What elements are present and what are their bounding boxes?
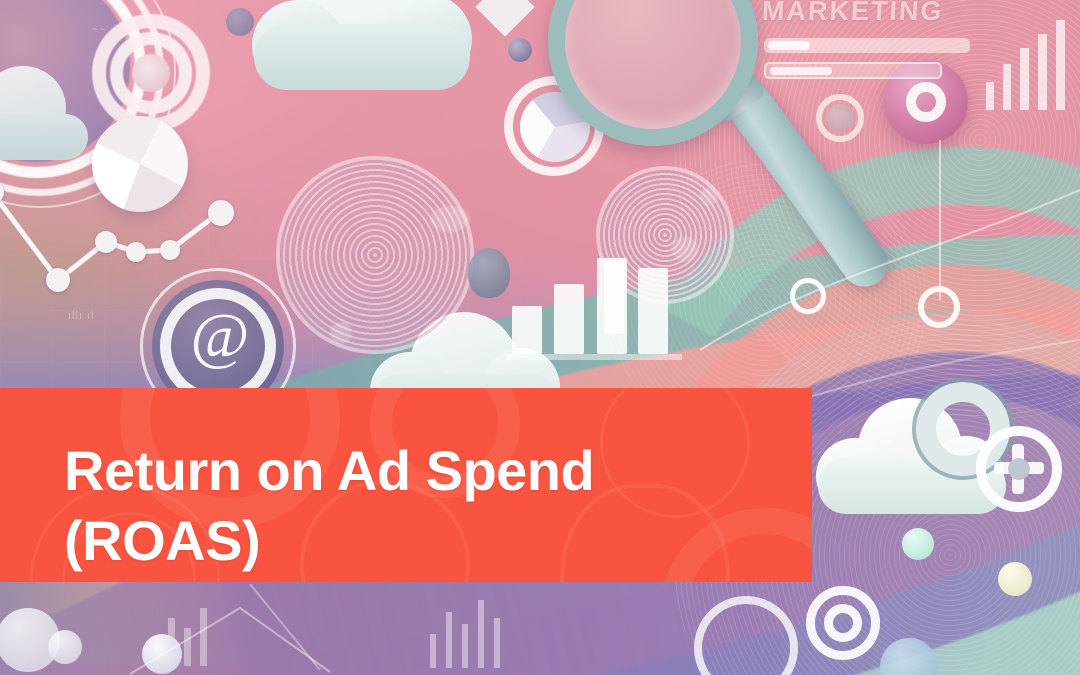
cloud-base <box>254 24 470 90</box>
sphere-navy-small <box>508 38 532 62</box>
bar-chart-bar <box>462 624 468 668</box>
decor-blob <box>330 322 352 344</box>
decor-blob <box>672 236 698 262</box>
connector-lines-right <box>700 130 1080 430</box>
sphere-slate <box>468 248 510 298</box>
target-center-dot <box>132 54 170 92</box>
decor-scribble-2: ·•· <box>186 104 200 116</box>
at-icon: @ <box>184 300 256 372</box>
line-chart-node <box>160 240 180 260</box>
bar-chart-bar <box>1020 48 1029 110</box>
ring-beige-right-fill <box>826 104 854 132</box>
bar-chart-center <box>512 244 672 354</box>
page-title: Return on Ad Spend (ROAS) <box>64 436 802 577</box>
bar-chart-bar <box>986 82 994 110</box>
ring-bottom-right-lower-inner <box>824 604 862 642</box>
bar-chart-bar <box>512 306 542 354</box>
sphere-mint-small <box>902 528 934 560</box>
decor-scribble-3: ıllı ıl <box>68 310 95 322</box>
decor-scribble-1: ~~ <box>92 24 107 36</box>
line-chart-node <box>95 231 117 253</box>
bar-chart-top-right <box>984 18 1076 110</box>
bar-chart-bar <box>1003 64 1011 110</box>
line-chart-node <box>208 200 234 226</box>
bar-chart-bar <box>554 284 584 354</box>
line-chart-node <box>46 268 70 292</box>
cloud-top-center <box>252 0 472 104</box>
progress-bar-2-fill <box>770 67 832 75</box>
magnifying-glass-icon <box>548 0 758 146</box>
line-chart-node <box>126 242 146 262</box>
cloud-left-edge <box>0 66 90 166</box>
sphere-magenta-hole <box>906 82 946 122</box>
page-title-line-2: (ROAS) <box>64 506 802 577</box>
spiral-disc-center <box>280 160 470 350</box>
decor-blob <box>880 426 898 444</box>
gear-icon <box>990 440 1048 498</box>
bar-chart-bar <box>478 600 484 668</box>
connector-lines-bottom-left <box>120 584 460 675</box>
cloud-base <box>0 114 88 160</box>
bar-chart-bar <box>1056 20 1065 110</box>
decor-blob <box>700 188 718 206</box>
marketing-wordmark: MARKETING <box>761 0 944 27</box>
sphere-white-small-bottom <box>48 630 82 664</box>
progress-bar-1-fill <box>768 41 810 50</box>
sphere-cream-small <box>998 562 1032 596</box>
bar-chart-baseline <box>506 354 682 360</box>
bar-chart-bar <box>638 268 668 354</box>
bar-chart-bar <box>494 618 500 668</box>
bar-single-left <box>604 262 624 334</box>
dot-dark-topleft <box>226 8 254 36</box>
hero-banner-image: ~~ ·•· ıllı ıl @ <box>0 0 1080 675</box>
line-chart-left <box>0 170 310 300</box>
title-banner: Return on Ad Spend (ROAS) <box>0 388 812 582</box>
magnifier-lens <box>548 0 758 146</box>
bar-chart-bar <box>1038 34 1047 110</box>
decor-blob <box>430 206 470 232</box>
page-title-line-1: Return on Ad Spend <box>64 439 594 502</box>
